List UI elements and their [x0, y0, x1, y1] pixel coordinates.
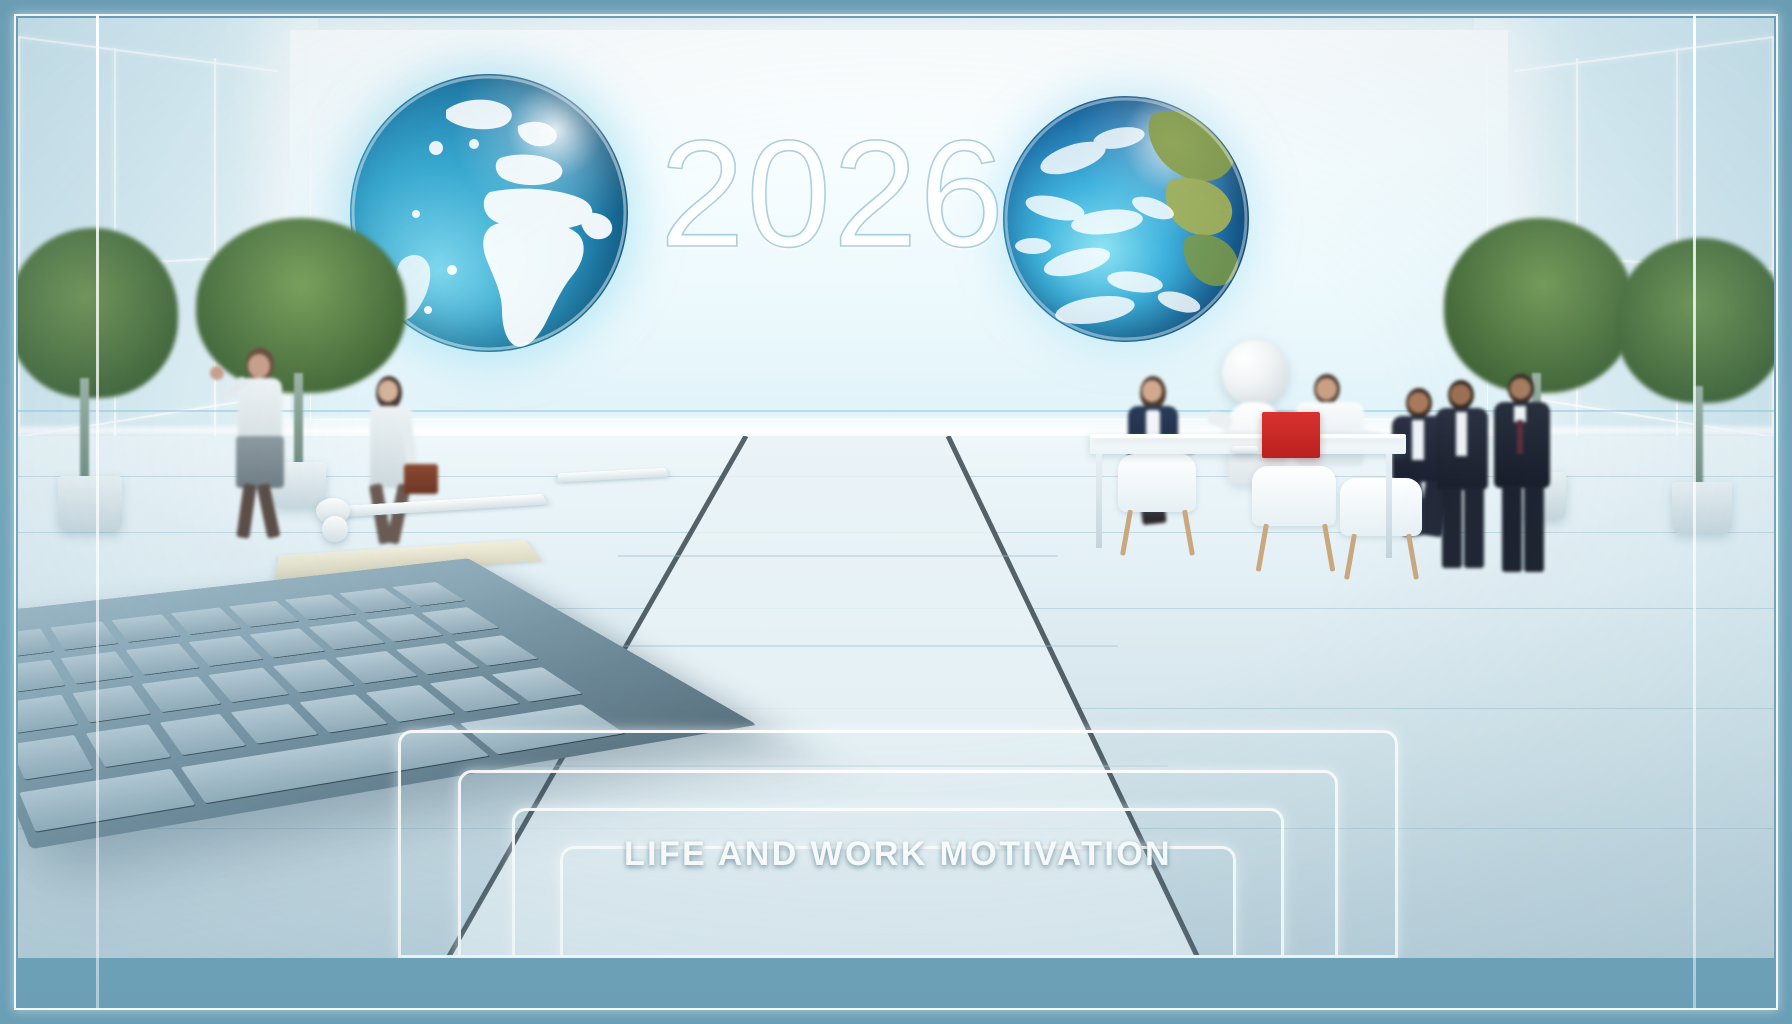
screenshot-root: 2026	[0, 0, 1792, 1024]
outer-frame	[14, 14, 1778, 1010]
